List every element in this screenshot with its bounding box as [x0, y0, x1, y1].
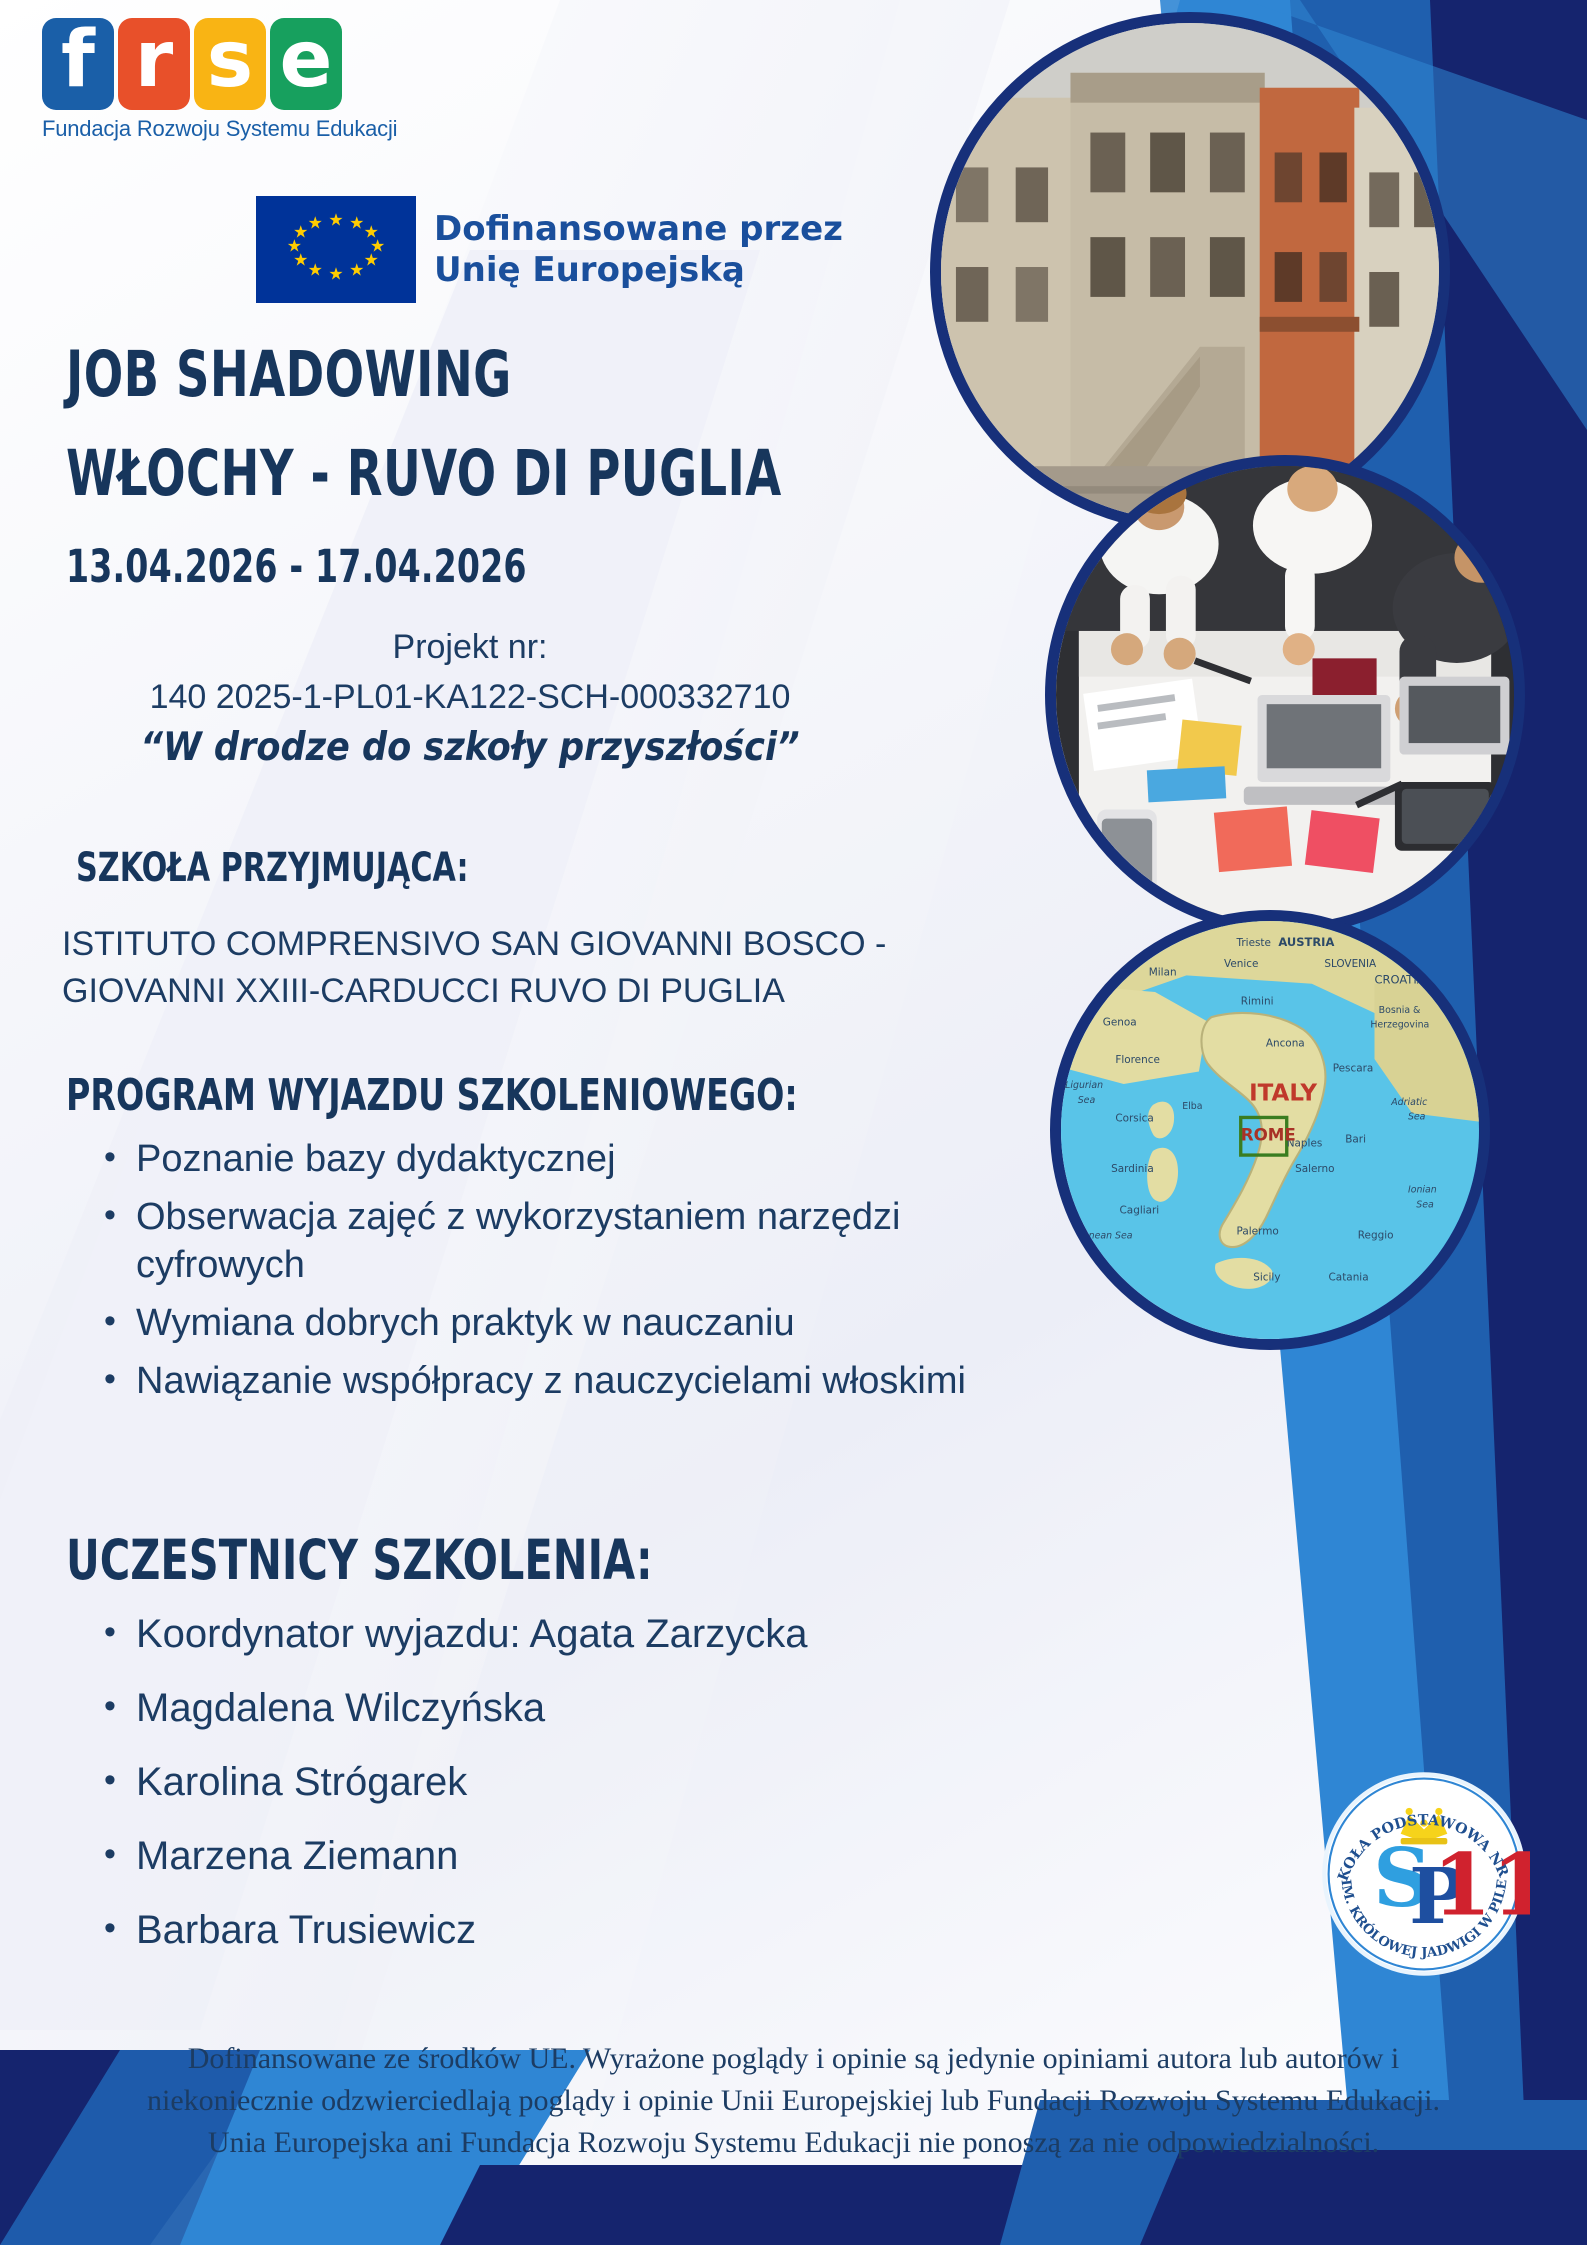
- map-label-city: Florence: [1115, 1054, 1160, 1066]
- map-label-capital: ROME: [1241, 1124, 1296, 1144]
- italian-town-square-photo: [941, 23, 1439, 521]
- school-seal-logo: S P 11 SZKOŁA PODSTAWOWA NR 11 IM. KRÓLO…: [1318, 1768, 1530, 1980]
- map-label-city: Cagliari: [1120, 1205, 1160, 1217]
- map-label-city: Milan: [1149, 966, 1177, 978]
- photo-circle-map: AUSTRIA SLOVENIA CROATIA Bosnia & Herzeg…: [1050, 910, 1490, 1350]
- photo-circle-town: [930, 12, 1450, 532]
- frse-letter-s: s: [194, 18, 266, 110]
- eu-star: ★: [328, 266, 343, 283]
- list-item: Marzena Ziemann: [96, 1832, 807, 1880]
- list-item: Nawiązanie współpracy z nauczycielami wł…: [96, 1357, 976, 1405]
- map-label-city: Venice: [1224, 958, 1258, 970]
- map-label-city: Genoa: [1103, 1017, 1137, 1029]
- list-item: Poznanie bazy dydaktycznej: [96, 1135, 976, 1183]
- project-motto: “W drodze do szkoły przyszłości”: [0, 725, 940, 770]
- eu-star: ★: [364, 252, 379, 269]
- page-title-line2: WŁOCHY - RUVO DI PUGLIA: [66, 437, 782, 510]
- frse-letter-f: f: [42, 18, 114, 110]
- map-label-city: Ancona: [1266, 1037, 1305, 1049]
- frse-letter-f-tile: f: [42, 18, 114, 110]
- participants-heading: UCZESTNICY SZKOLENIA:: [66, 1528, 653, 1592]
- frse-letter-e-tile: e: [270, 18, 342, 110]
- project-number: 140 2025-1-PL01-KA122-SCH-000332710: [0, 678, 940, 717]
- eu-funding-text: Dofinansowane przez Unię Europejską: [434, 209, 843, 291]
- page-title-line1: JOB SHADOWING: [66, 338, 512, 411]
- eu-star: ★: [328, 211, 343, 228]
- footer-disclaimer: Dofinansowane ze środków UE. Wyrażone po…: [0, 2038, 1587, 2164]
- eu-star: ★: [308, 261, 323, 278]
- list-item: Karolina Strógarek: [96, 1758, 807, 1806]
- map-label-city: Palermo: [1237, 1226, 1279, 1238]
- project-label: Projekt nr:: [0, 628, 940, 667]
- map-of-italy-photo: AUSTRIA SLOVENIA CROATIA Bosnia & Herzeg…: [1061, 921, 1479, 1339]
- photo-circle-teachers: [1045, 455, 1525, 935]
- map-label-city: Salerno: [1295, 1163, 1334, 1175]
- frse-logo-caption: Fundacja Rozwoju Systemu Edukacji: [42, 116, 362, 142]
- program-list: Poznanie bazy dydaktycznej Obserwacja za…: [96, 1135, 976, 1415]
- map-label-city: Reggio: [1358, 1230, 1394, 1242]
- eu-star: ★: [349, 214, 364, 231]
- map-label-region: CROATIA: [1375, 973, 1425, 987]
- event-dates: 13.04.2026 - 17.04.2026: [66, 540, 527, 593]
- map-label-country: ITALY: [1249, 1081, 1317, 1107]
- host-school-line1: ISTITUTO COMPRENSIVO SAN GIOVANNI BOSCO …: [62, 925, 886, 964]
- map-label-sea: Sea: [1416, 1199, 1434, 1210]
- program-heading: PROGRAM WYJAZDU SZKOLENIOWEGO:: [66, 1070, 798, 1121]
- list-item: Barbara Trusiewicz: [96, 1906, 807, 1954]
- frse-logo-marks: f r s e: [42, 18, 362, 110]
- map-label-region: Herzegovina: [1370, 1020, 1429, 1031]
- map-label-city: Bari: [1345, 1134, 1366, 1146]
- map-label-sea: Ligurian: [1065, 1080, 1103, 1091]
- map-label-region: AUSTRIA: [1278, 935, 1334, 949]
- frse-letter-s-tile: s: [194, 18, 266, 110]
- map-label-city: Trieste: [1236, 937, 1271, 949]
- eu-funding-line1: Dofinansowane przez: [434, 209, 843, 250]
- map-label-region: SLOVENIA: [1324, 958, 1377, 970]
- map-label-sea: Ionian: [1408, 1185, 1437, 1196]
- map-label-city: Elba: [1182, 1101, 1202, 1112]
- map-label-sea: Adriatic: [1390, 1097, 1428, 1108]
- map-label-sea: Sea: [1408, 1112, 1426, 1123]
- map-label-city: Corsica: [1115, 1113, 1153, 1125]
- eu-flag-icon: ★ ★ ★ ★ ★ ★ ★ ★ ★ ★ ★ ★: [256, 196, 416, 303]
- footer-line2: niekoniecznie odzwierciedlają poglądy i …: [0, 2080, 1587, 2122]
- host-school-line2: GIOVANNI XXIII-CARDUCCI RUVO DI PUGLIA: [62, 972, 785, 1011]
- eu-star: ★: [349, 261, 364, 278]
- list-item: Obserwacja zajęć z wykorzystaniem narzęd…: [96, 1193, 976, 1289]
- map-label-city: Sardinia: [1111, 1163, 1154, 1175]
- host-school-heading: SZKOŁA PRZYJMUJĄCA:: [76, 845, 469, 891]
- eu-star: ★: [308, 214, 323, 231]
- list-item: Koordynator wyjazdu: Agata Zarzycka: [96, 1610, 807, 1658]
- frse-letter-r-tile: r: [118, 18, 190, 110]
- school-seal-svg: S P 11 SZKOŁA PODSTAWOWA NR 11 IM. KRÓLO…: [1318, 1768, 1530, 1980]
- list-item: Magdalena Wilczyńska: [96, 1684, 807, 1732]
- map-label-city: Catania: [1329, 1271, 1369, 1283]
- participants-list: Koordynator wyjazdu: Agata Zarzycka Magd…: [96, 1610, 807, 1980]
- eu-star: ★: [293, 224, 308, 241]
- map-label-sea: Sea: [1078, 1095, 1096, 1106]
- map-label-city: Pescara: [1333, 1062, 1374, 1074]
- eu-funding-line2: Unię Europejską: [434, 250, 843, 291]
- teachers-working-at-desk-photo: [1056, 466, 1514, 924]
- map-label-region: Bosnia &: [1379, 1005, 1421, 1016]
- map-label-city: Rimini: [1241, 996, 1274, 1008]
- map-label-city: Sicily: [1253, 1271, 1280, 1283]
- frse-letter-r: r: [118, 18, 190, 110]
- footer-line3: Unia Europejska ani Fundacja Rozwoju Sys…: [0, 2122, 1587, 2164]
- map-label-sea: erranean Sea: [1069, 1231, 1132, 1242]
- frse-logo: f r s e Fundacja Rozwoju Systemu Edukacj…: [42, 18, 362, 142]
- eu-funding-logo: ★ ★ ★ ★ ★ ★ ★ ★ ★ ★ ★ ★ Dofinansowane pr…: [256, 196, 843, 303]
- poster-root: f r s e Fundacja Rozwoju Systemu Edukacj…: [0, 0, 1587, 2245]
- list-item: Wymiana dobrych praktyk w nauczaniu: [96, 1299, 976, 1347]
- footer-line1: Dofinansowane ze środków UE. Wyrażone po…: [0, 2038, 1587, 2080]
- frse-letter-e: e: [270, 18, 342, 110]
